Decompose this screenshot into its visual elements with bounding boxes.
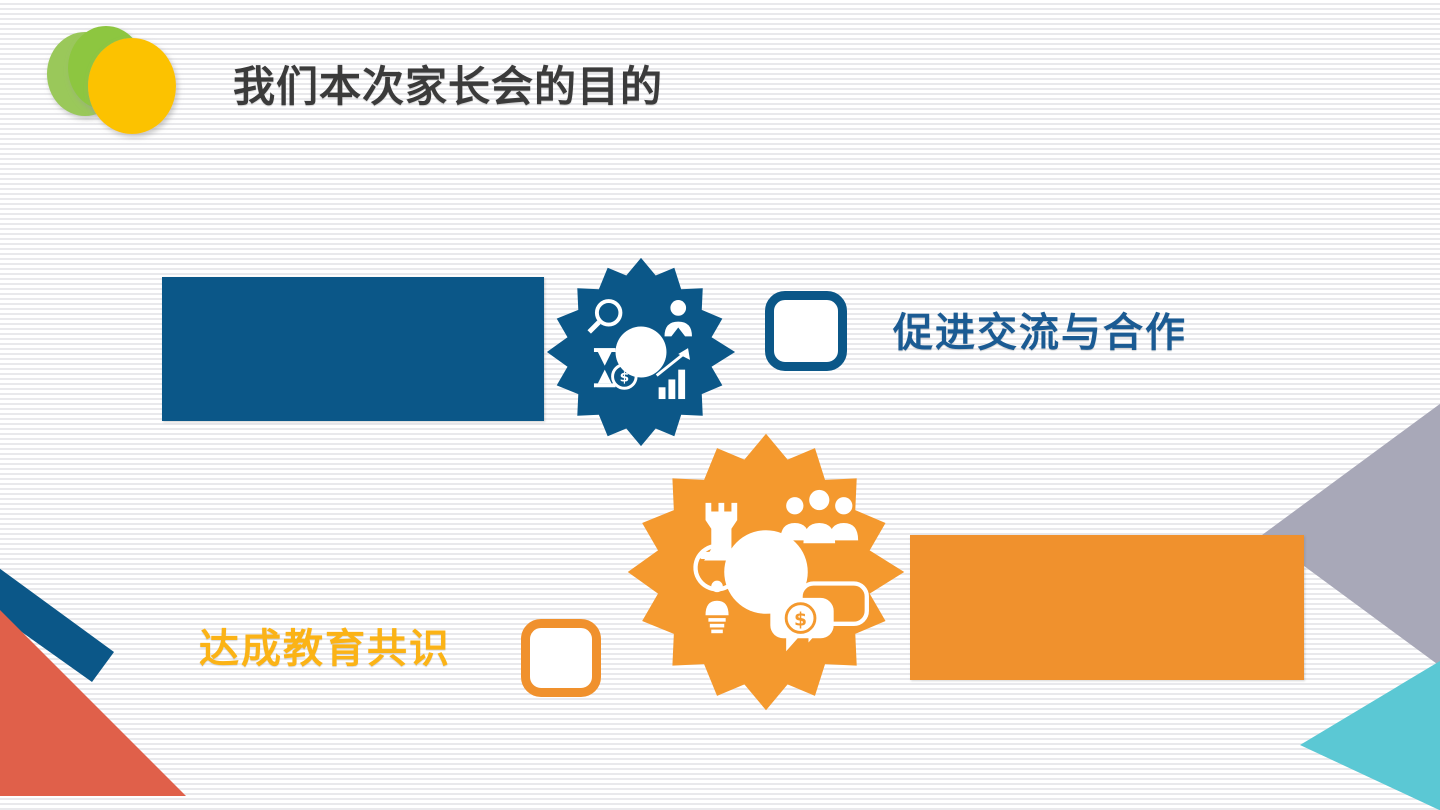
svg-text:$: $ [620,369,630,385]
blue-row-label: 促进交流与合作 [893,313,1187,353]
corner-cyan-triangle-icon [1300,655,1440,810]
page-title: 我们本次家长会的目的 [233,66,663,108]
svg-text:$: $ [794,609,807,630]
orange-content-panel[interactable] [910,535,1304,680]
corner-red-triangle-icon [0,600,220,810]
blue-rounded-square-marker[interactable] [765,291,847,371]
three-overlapping-circles-icon [28,18,203,153]
blue-content-panel[interactable] [162,277,544,421]
gear-orange-icon: $ [622,428,910,716]
gear-blue-icon: $ [543,254,739,450]
orange-rounded-square-marker[interactable] [521,619,601,697]
slide-canvas: 我们本次家长会的目的 $ [0,0,1440,810]
orange-row-label: 达成教育共识 [199,629,451,669]
